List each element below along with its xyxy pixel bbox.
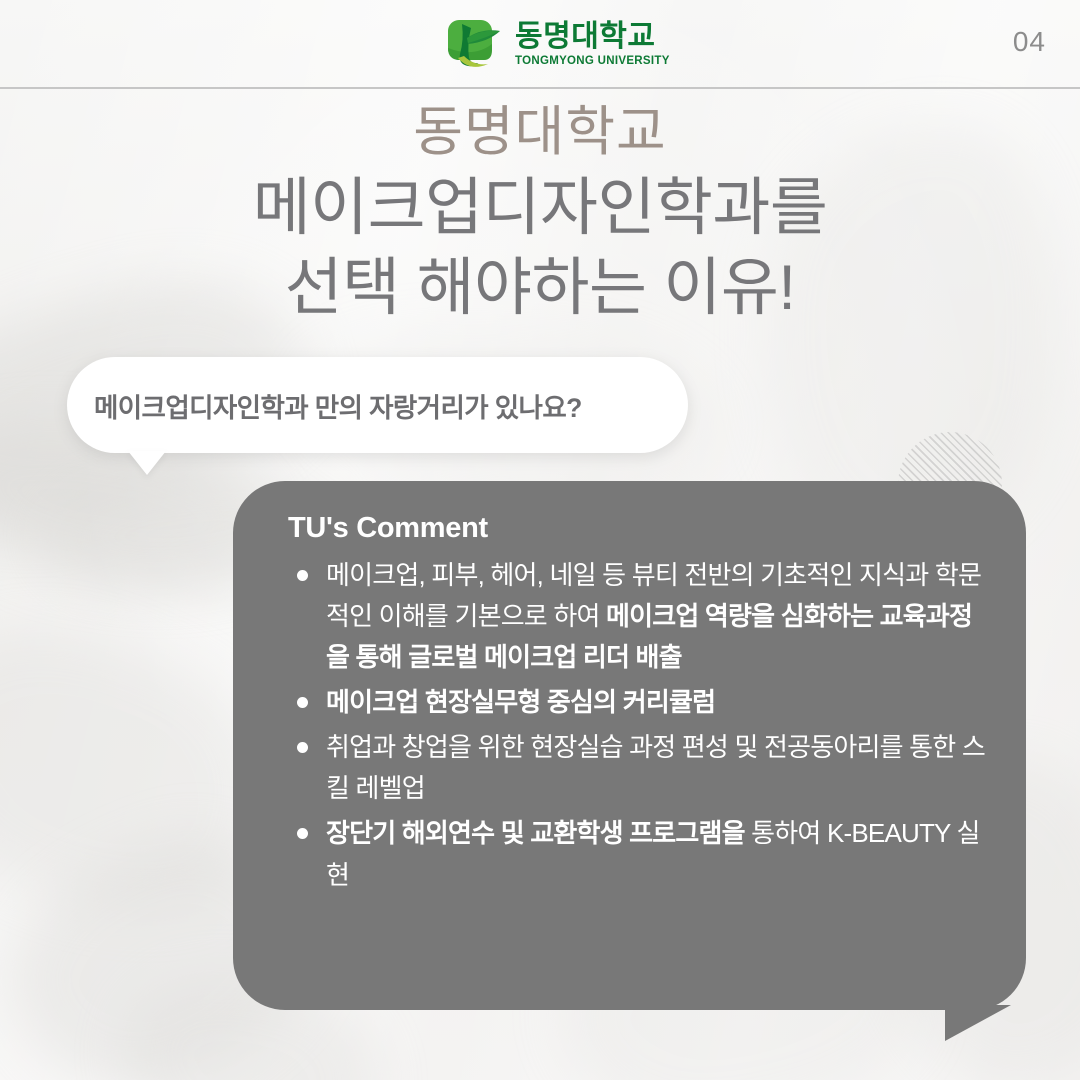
comment-bullet-list: 메이크업, 피부, 헤어, 네일 등 뷰티 전반의 기초적인 지식과 학문적인 … xyxy=(288,555,992,896)
comment-bullet-item: 장단기 해외연수 및 교환학생 프로그램을 통하여 K-BEAUTY 실현 xyxy=(288,813,992,895)
title-university-line: 동명대학교 xyxy=(0,103,1080,162)
comment-bullet-text: 장단기 해외연수 및 교환학생 프로그램을 xyxy=(326,818,745,848)
university-logo: 동명대학교 TONGMYONG UNIVERSITY xyxy=(444,14,670,76)
logo-wordmark: 동명대학교 TONGMYONG UNIVERSITY xyxy=(515,22,670,68)
question-text: 메이크업디자인학과 만의 자랑거리가 있나요? xyxy=(67,386,582,425)
promo-card: 동명대학교 TONGMYONG UNIVERSITY 04 동명대학교 메이크업… xyxy=(0,0,1080,1080)
question-bubble-tail xyxy=(128,451,166,475)
header: 동명대학교 TONGMYONG UNIVERSITY 04 xyxy=(0,0,1080,89)
comment-bullet-item: 메이크업 현장실무형 중심의 커리큘럼 xyxy=(288,682,992,723)
page-number: 04 xyxy=(1013,26,1046,58)
tongmyong-leaf-logo-icon xyxy=(444,14,506,76)
page-title: 동명대학교 메이크업디자인학과를 선택 해야하는 이유! xyxy=(0,103,1080,327)
comment-bubble: TU's Comment 메이크업, 피부, 헤어, 네일 등 뷰티 전반의 기… xyxy=(233,481,1026,1010)
logo-korean-name: 동명대학교 xyxy=(515,22,670,52)
comment-bullet-text: 취업과 창업을 위한 현장실습 과정 편성 및 전공동아리를 통한 스킬 레벨업 xyxy=(326,732,985,803)
comment-content: TU's Comment 메이크업, 피부, 헤어, 네일 등 뷰티 전반의 기… xyxy=(233,481,1026,1010)
comment-bubble-tail xyxy=(945,1005,1011,1041)
title-main-line-2: 선택 해야하는 이유! xyxy=(0,250,1080,327)
comment-title: TU's Comment xyxy=(288,512,992,545)
title-main-line-1: 메이크업디자인학과를 xyxy=(0,168,1080,250)
question-bubble: 메이크업디자인학과 만의 자랑거리가 있나요? xyxy=(67,357,688,453)
comment-bullet-item: 취업과 창업을 위한 현장실습 과정 편성 및 전공동아리를 통한 스킬 레벨업 xyxy=(288,727,992,809)
comment-bullet-item: 메이크업, 피부, 헤어, 네일 등 뷰티 전반의 기초적인 지식과 학문적인 … xyxy=(288,555,992,678)
logo-english-name: TONGMYONG UNIVERSITY xyxy=(515,56,670,68)
comment-bullet-text: 메이크업 현장실무형 중심의 커리큘럼 xyxy=(326,687,715,717)
header-divider xyxy=(0,87,1080,89)
